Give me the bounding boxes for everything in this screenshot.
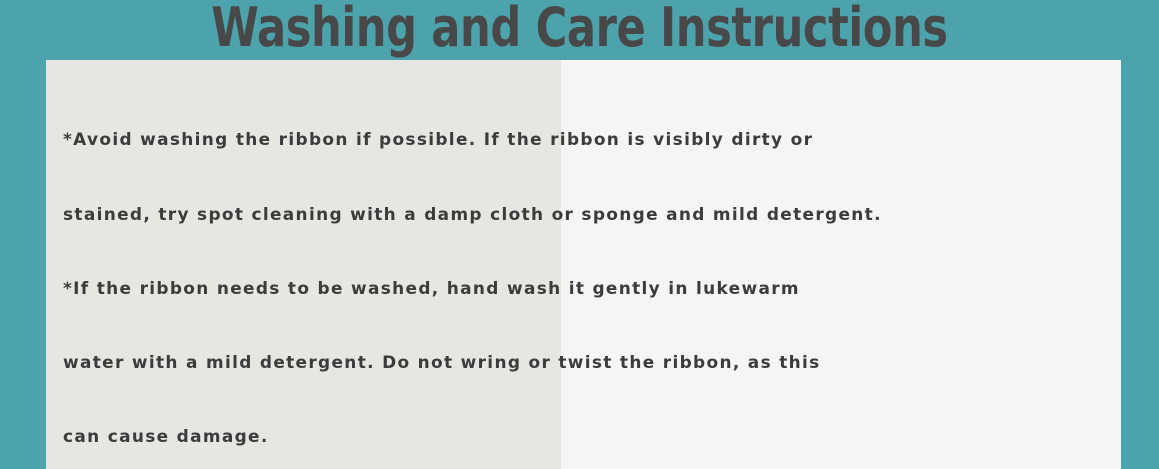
instruction-line: stained, try spot cleaning with a damp c… <box>63 203 1121 228</box>
care-instructions-text: *Avoid washing the ribbon if possible. I… <box>63 79 1121 469</box>
instruction-poster: Washing and Care Instructions *Avoid was… <box>0 0 1159 469</box>
instruction-line: water with a mild detergent. Do not wrin… <box>63 351 1121 376</box>
content-card: *Avoid washing the ribbon if possible. I… <box>46 60 1121 469</box>
instruction-line: *If the ribbon needs to be washed, hand … <box>63 277 1121 302</box>
instruction-line: *Avoid washing the ribbon if possible. I… <box>63 128 1121 153</box>
instruction-line: can cause damage. <box>63 425 1121 450</box>
page-title: Washing and Care Instructions <box>116 0 1043 58</box>
